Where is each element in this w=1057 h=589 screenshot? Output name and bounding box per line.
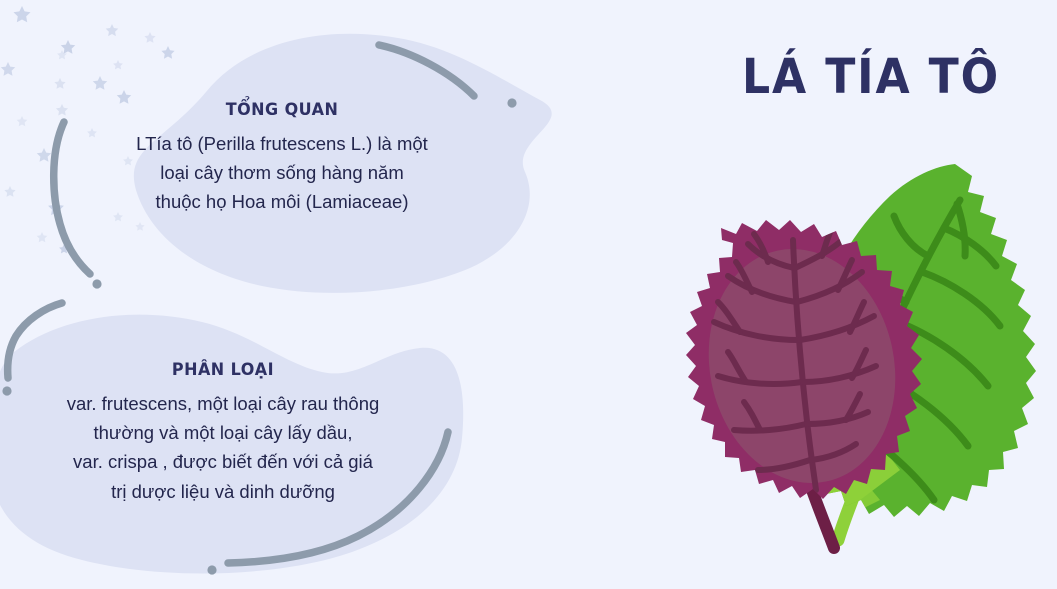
text-layer: LÁ TÍA TÔ TỔNG QUAN LTía tô (Perilla fru…	[0, 0, 1057, 589]
overview-line-2: loại cây thơm sống hàng năm	[62, 158, 502, 187]
classification-line-2: thường và một loại cây lấy dầu,	[0, 418, 446, 447]
classification-line-3: var. crispa , được biết đến với cả giá	[0, 447, 446, 476]
classification-line-4: trị dược liệu và dinh dưỡng	[0, 477, 446, 506]
classification-heading: PHÂN LOẠI	[13, 360, 432, 380]
slide-canvas: LÁ TÍA TÔ TỔNG QUAN LTía tô (Perilla fru…	[0, 0, 1057, 589]
overview-body: LTía tô (Perilla frutescens L.) là một l…	[62, 129, 502, 217]
classification-line-1: var. frutescens, một loại cây rau thông	[0, 389, 446, 418]
overview-line-3: thuộc họ Hoa môi (Lamiaceae)	[62, 187, 502, 216]
overview-card: TỔNG QUAN LTía tô (Perilla frutescens L.…	[62, 100, 502, 217]
overview-heading: TỔNG QUAN	[75, 100, 489, 120]
classification-card: PHÂN LOẠI var. frutescens, một loại cây …	[0, 360, 446, 506]
overview-line-1: LTía tô (Perilla frutescens L.) là một	[62, 129, 502, 158]
classification-body: var. frutescens, một loại cây rau thông …	[0, 389, 446, 506]
page-title: LÁ TÍA TÔ	[742, 52, 1018, 102]
